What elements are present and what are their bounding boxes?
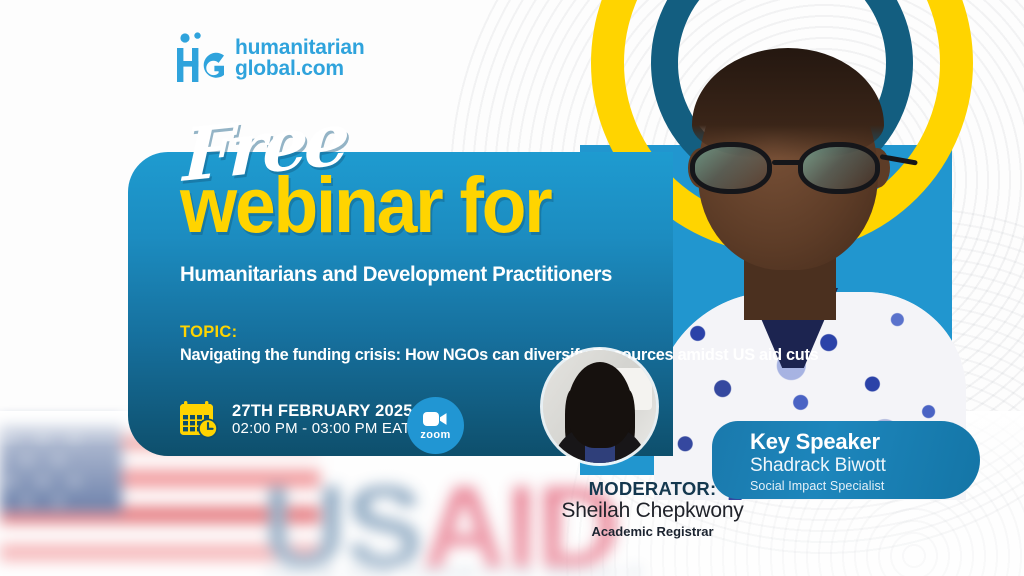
schedule-text: 27TH FEBRUARY 2025 02:00 PM - 03:00 PM E… [232,402,413,438]
logo-wordmark: humanitarian global.com [235,37,364,80]
topic-label: TOPIC: [180,323,237,342]
moderator-avatar [543,350,656,463]
brand-logo[interactable]: humanitarian global.com [172,32,364,84]
speaker-info-banner: Key Speaker Shadrack Biwott Social Impac… [712,421,980,499]
moderator-name: Sheilah Chepkwony [545,499,760,523]
calendar-clock-icon [179,400,219,440]
logo-line-2: global.com [235,58,364,79]
speaker-title: Social Impact Specialist [750,479,886,493]
speaker-role-label: Key Speaker [750,430,886,454]
zoom-platform-badge[interactable]: zoom [407,397,464,454]
event-time: 02:00 PM - 03:00 PM EAT [232,421,413,438]
topic-text: Navigating the funding crisis: How NGOs … [180,344,818,365]
free-script-label: Free [182,95,348,198]
glasses-icon [688,138,886,194]
speaker-name: Shadrack Biwott [750,455,886,477]
usaid-tagline: FROM THE AMERICAN PEOPLE [268,566,646,576]
usaid-us-text: US [262,461,422,576]
hg-monogram-icon [172,32,226,84]
page-subtitle: Humanitarians and Development Practition… [180,262,612,287]
zoom-wordmark: zoom [420,429,450,441]
logo-line-1: humanitarian [235,37,364,58]
webinar-poster: USAID FROM THE AMERICAN PEOPLE [0,0,1024,576]
event-date: 27TH FEBRUARY 2025 [232,402,413,420]
us-flag-union [0,421,122,513]
schedule-row: 27TH FEBRUARY 2025 02:00 PM - 03:00 PM E… [179,400,413,440]
video-camera-icon [423,411,448,427]
moderator-title: Academic Registrar [545,524,760,539]
